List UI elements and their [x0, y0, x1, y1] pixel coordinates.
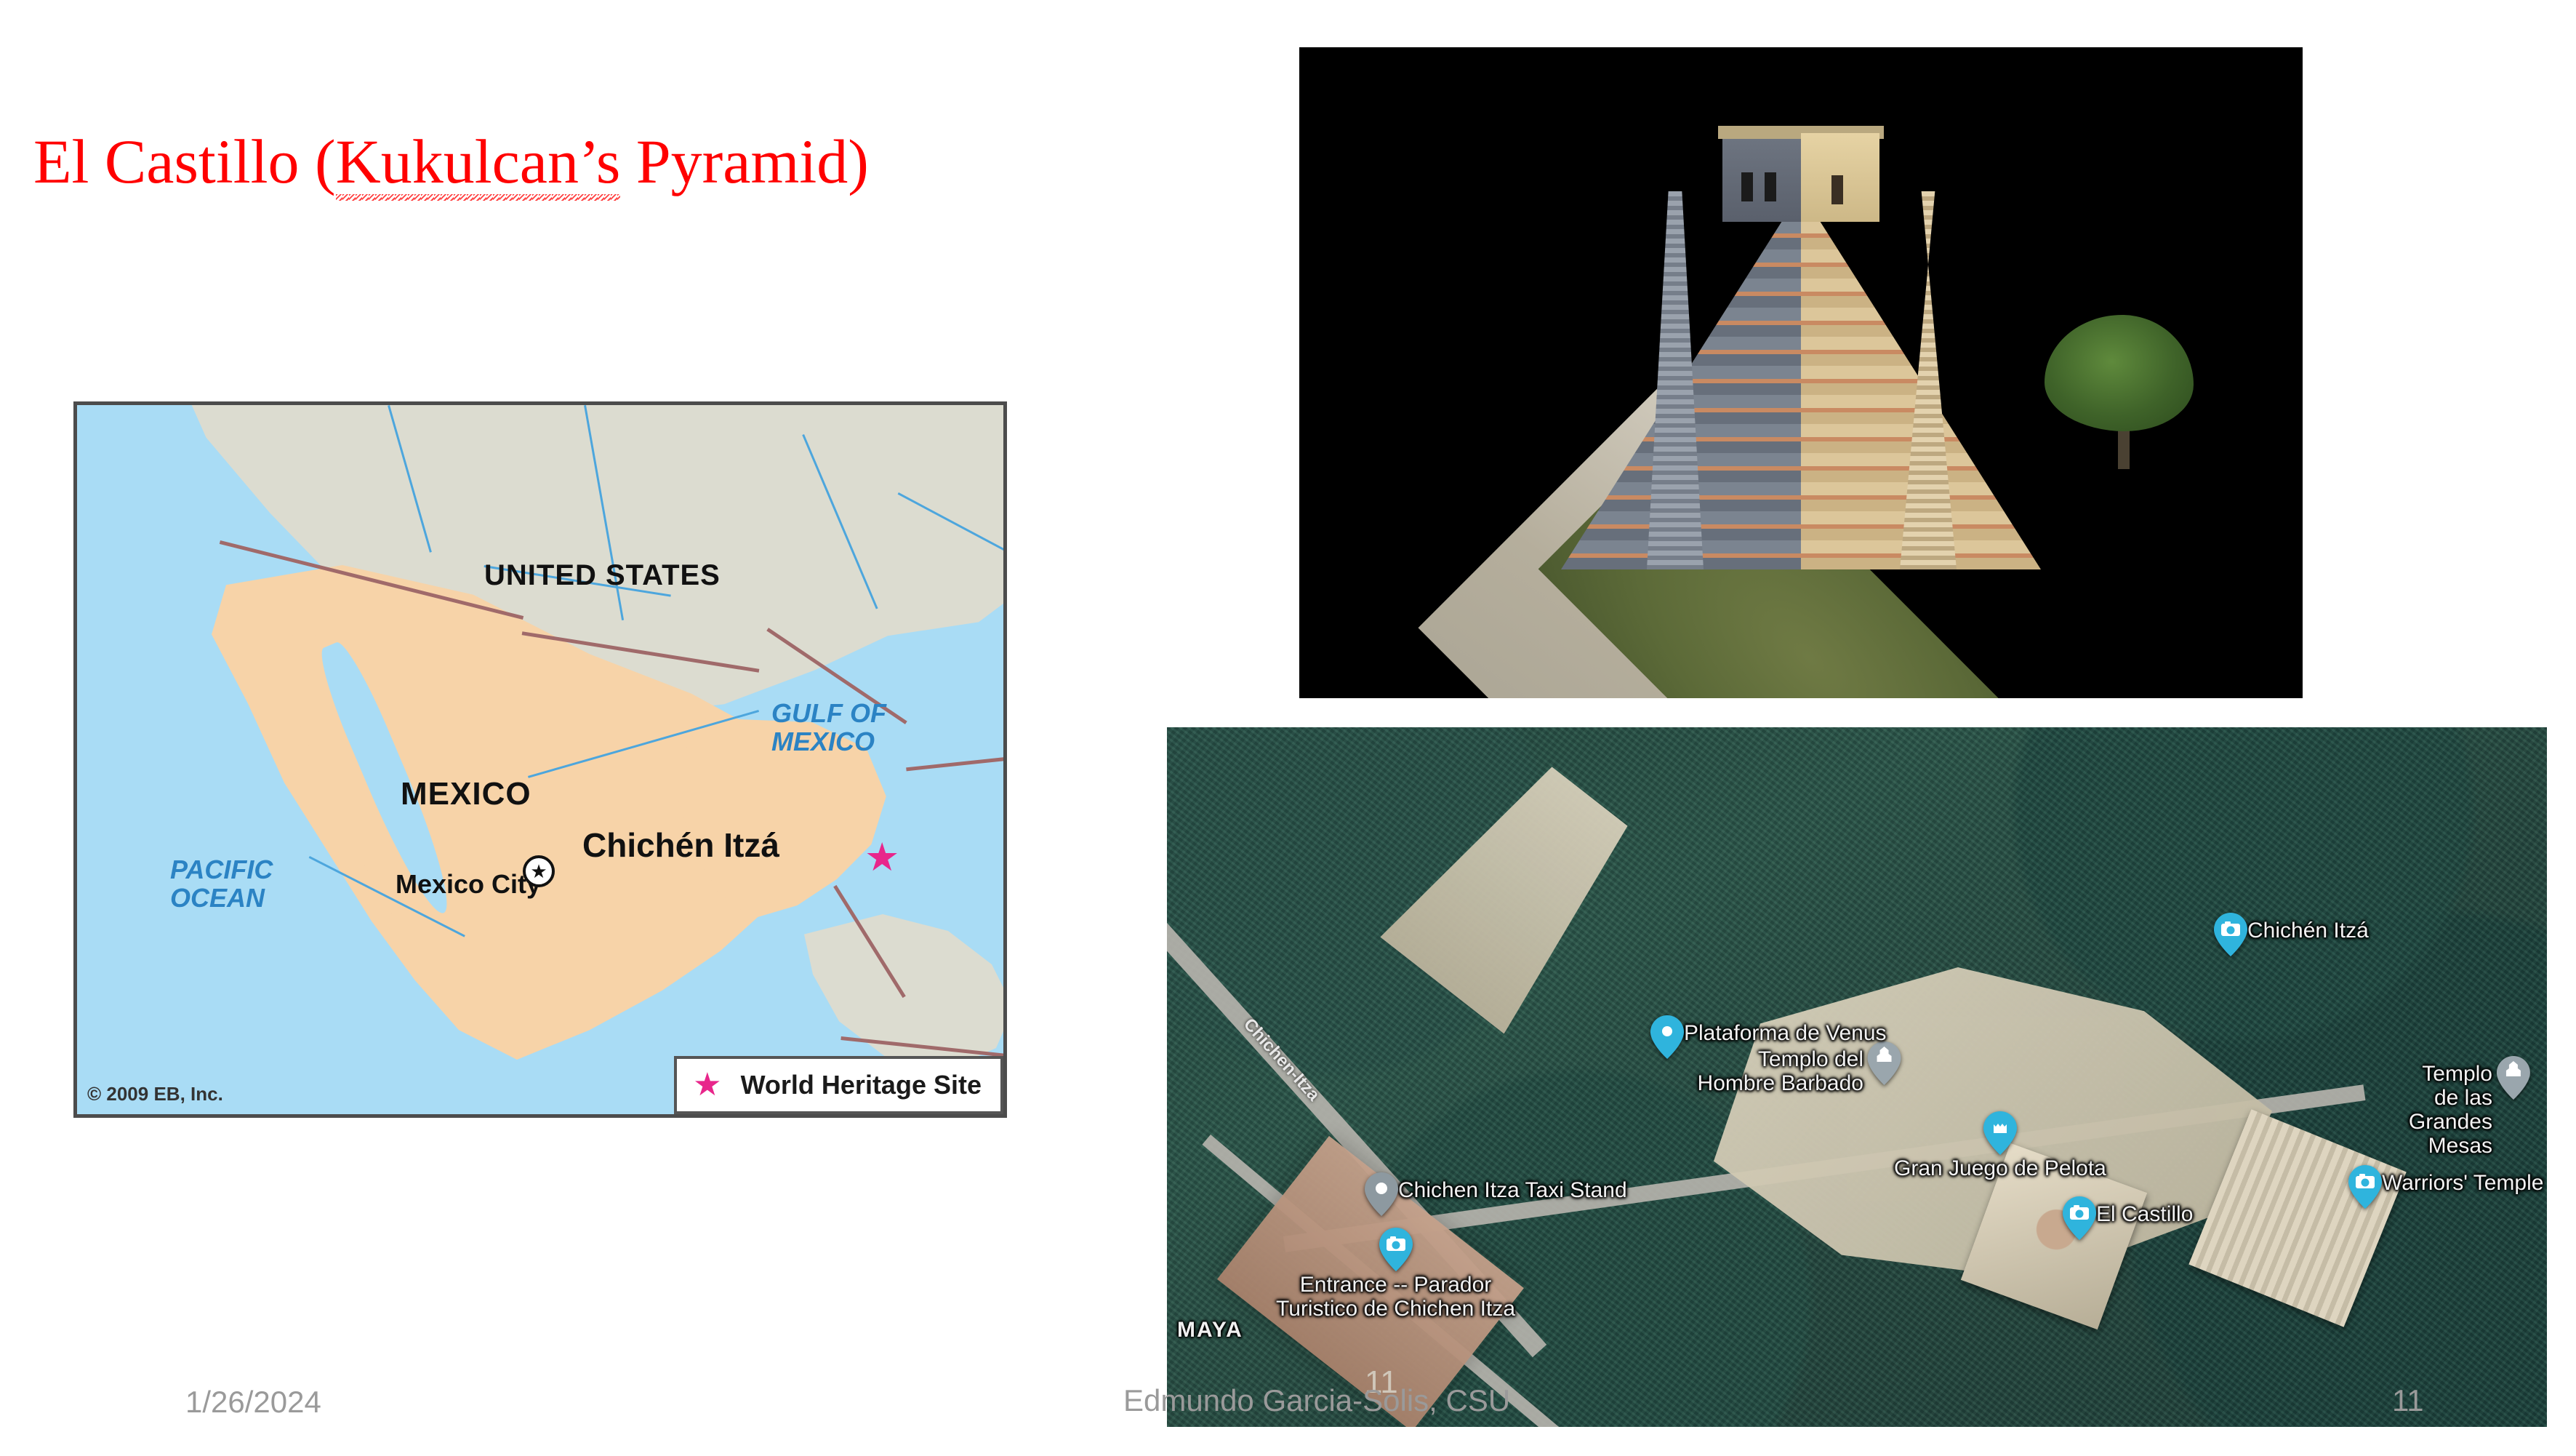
temple-sunlit-wall [1801, 133, 1879, 222]
temple-doorway [1831, 175, 1843, 204]
el-castillo-3d-photo [1299, 47, 2303, 698]
dot-pin-icon [1365, 1172, 1398, 1216]
page-title: El Castillo (Kukulcan’s Pyramid) [33, 125, 869, 198]
map-label-united-states: UNITED STATES [484, 559, 721, 592]
heritage-star-icon: ★ [864, 838, 899, 877]
camera-pin-icon [1379, 1228, 1413, 1271]
temple-shaded-wall [1722, 139, 1801, 222]
satellite-area-label: MAYA [1177, 1318, 1243, 1343]
poi-plataforma-de-venus[interactable]: Plataforma de Venus [1650, 1015, 1887, 1059]
footer-date: 1/26/2024 [185, 1385, 321, 1420]
poi-label: Gran Juego de Pelota [1894, 1156, 2106, 1180]
poi-el-castillo[interactable]: El Castillo [2063, 1196, 2193, 1240]
map-legend: ★ World Heritage Site [674, 1056, 1003, 1114]
footer-author: Edmundo Garcia-Solis, CSU [1123, 1383, 1510, 1418]
poi-chichen-itza-taxi-stand[interactable]: Chichen Itza Taxi Stand [1365, 1172, 1627, 1216]
poi-label: Plataforma de Venus [1684, 1021, 1887, 1045]
poi-warriors-temple[interactable]: Warriors' Temple [2348, 1165, 2543, 1209]
poi-label: El Castillo [2096, 1202, 2193, 1226]
temple-doorway [1765, 172, 1776, 201]
map-label-mexico: MEXICO [401, 776, 531, 812]
pyramid-body [1561, 133, 2041, 569]
poi-label: Chichén Itzá [2247, 919, 2369, 943]
pyramid-summit-temple [1722, 133, 1879, 222]
page-title-part-1: El Castillo ( [33, 127, 336, 196]
poi-label: Entrance -- Parador Turistico de Chichen… [1276, 1273, 1515, 1321]
map-label-mexico-city: Mexico City [396, 869, 541, 900]
poi-label: Warriors' Temple [2382, 1171, 2543, 1195]
camera-pin-icon [2348, 1165, 2382, 1209]
map-label-gulf-of-mexico: GULF OF MEXICO [771, 700, 886, 756]
camera-pin-icon [2214, 913, 2247, 956]
legend-label: World Heritage Site [741, 1070, 982, 1100]
page-title-part-2: Pyramid) [620, 127, 869, 196]
photo-tree-canopy [2045, 315, 2194, 431]
poi-gran-juego-de-pelota[interactable]: Gran Juego de Pelota [1894, 1111, 2106, 1180]
camera-pin-icon [2063, 1196, 2096, 1240]
monument-pin-icon [2497, 1056, 2530, 1100]
capital-city-marker-icon: ★ [525, 857, 553, 885]
poi-templo-de-las-grandes-mesas[interactable]: Templo de las Grandes Mesas [2409, 1056, 2530, 1158]
temple-doorway [1741, 172, 1753, 201]
footer-page-number: 11 [2392, 1383, 2424, 1418]
presentation-slide: El Castillo (Kukulcan’s Pyramid) UNITED [0, 0, 2576, 1456]
map-copyright: © 2009 EB, Inc. [87, 1083, 223, 1105]
poi-entrance-parador-turistico[interactable]: Entrance -- Parador Turistico de Chichen… [1276, 1228, 1515, 1321]
poi-chichen-itza[interactable]: Chichén Itzá [2214, 913, 2369, 956]
map-label-chichen-itza: Chichén Itzá [582, 825, 779, 865]
map-label-pacific-ocean: PACIFIC OCEAN [170, 856, 273, 913]
castle-pin-icon [1983, 1111, 2017, 1155]
satellite-map[interactable]: Chichen-Itza Templo del Hombre Barbado G… [1167, 727, 2547, 1427]
poi-label: Templo de las Grandes Mesas [2409, 1062, 2492, 1158]
marker-pin-icon [1650, 1015, 1684, 1059]
legend-star-icon: ★ [693, 1069, 721, 1101]
page-title-spellchecked-word: Kukulcan’s [336, 125, 621, 198]
reference-map: UNITED STATES MEXICO GULF OF MEXICO PACI… [73, 401, 1007, 1118]
reference-map-canvas: UNITED STATES MEXICO GULF OF MEXICO PACI… [77, 405, 1003, 1114]
poi-label: Chichen Itza Taxi Stand [1398, 1178, 1627, 1202]
